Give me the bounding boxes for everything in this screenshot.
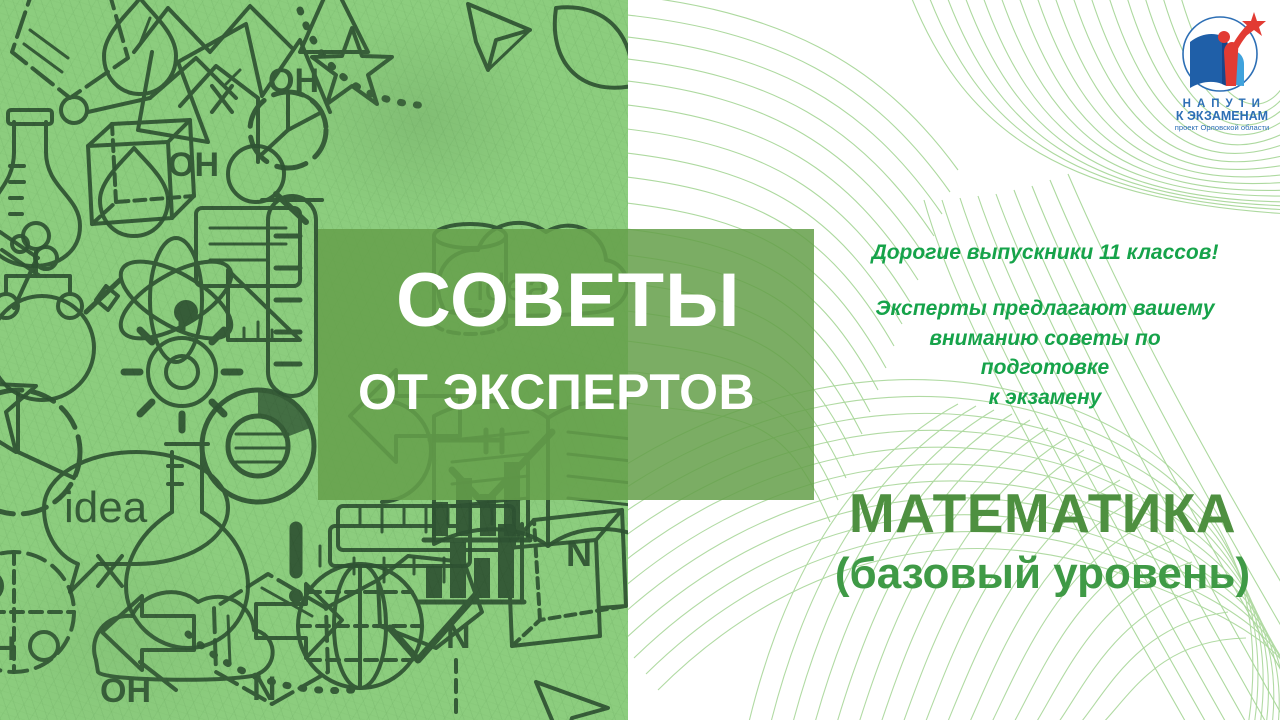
- intro-line-4: к экзамену: [820, 383, 1270, 413]
- intro-text-block: Дорогие выпускники 11 классов! Эксперты …: [820, 238, 1270, 413]
- logo-line-2: К ЭКЗАМЕНАМ: [1176, 109, 1268, 123]
- intro-line-1: Эксперты предлагают вашему: [820, 294, 1270, 324]
- title-overlay-panel: СОВЕТЫ ОТ ЭКСПЕРТОВ: [318, 229, 814, 500]
- intro-line-2: вниманию советы по: [820, 324, 1270, 354]
- subject-level: (базовый уровень): [810, 549, 1275, 598]
- title-line-2: ОТ ЭКСПЕРТОВ: [358, 367, 784, 417]
- project-logo[interactable]: Н А П У Т И К ЭКЗАМЕНАМ проект Орловской…: [1168, 6, 1276, 138]
- logo-caption: проект Орловской области: [1175, 123, 1270, 132]
- slide-canvas: OH OH: [0, 0, 1280, 720]
- intro-line-3: подготовке: [820, 353, 1270, 383]
- subject-name: МАТЕМАТИКА: [810, 484, 1275, 543]
- intro-greeting: Дорогие выпускники 11 классов!: [820, 238, 1270, 268]
- title-line-1: СОВЕТЫ: [358, 263, 784, 339]
- logo-mark-icon: Н А П У Т И К ЭКЗАМЕНАМ проект Орловской…: [1168, 6, 1276, 138]
- subject-block: МАТЕМАТИКА (базовый уровень): [810, 484, 1275, 599]
